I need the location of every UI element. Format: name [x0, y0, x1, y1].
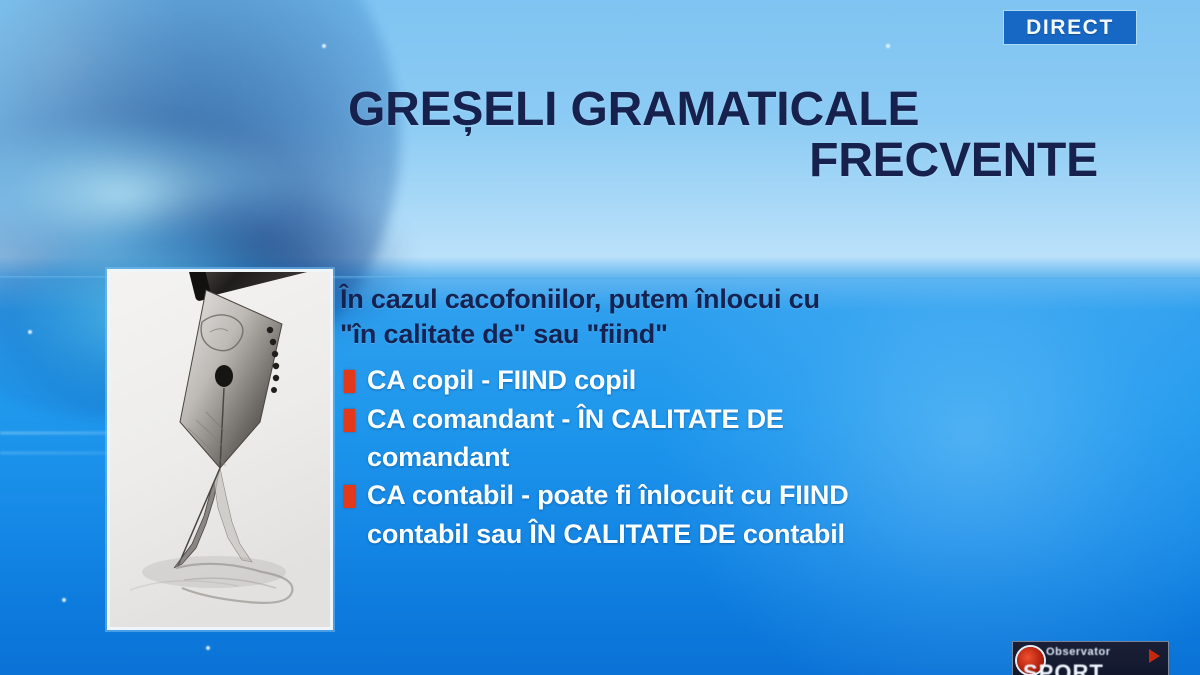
list-item-continuation: contabil sau ÎN CALITATE DE contabil: [340, 515, 1060, 553]
logo-top-label: Observator: [1046, 646, 1111, 658]
page-title-line-1: GREȘELI GRAMATICALE: [330, 84, 1120, 135]
bullet-marker-icon: [344, 370, 355, 393]
sparkle-dot: [886, 44, 890, 48]
list-item-label: CA comandant - ÎN CALITATE DE: [367, 404, 784, 434]
live-direct-badge: DIRECT: [1004, 11, 1136, 44]
sparkle-dot: [62, 598, 66, 602]
logo-arrow-icon: [1149, 649, 1160, 663]
list-item-label: comandant: [367, 442, 509, 472]
sparkle-dot: [206, 646, 210, 650]
list-item: CA copil - FIIND copil: [340, 361, 1060, 399]
page-title: GREȘELI GRAMATICALE FRECVENTE: [330, 84, 1120, 187]
page-title-line-2: FRECVENTE: [330, 135, 1120, 186]
sparkle-dot: [28, 330, 32, 334]
bullet-marker-icon: [344, 409, 355, 432]
list-item-label: contabil sau ÎN CALITATE DE contabil: [367, 519, 845, 549]
intro-paragraph: În cazul cacofoniilor, putem înlocui cu …: [340, 282, 1060, 352]
list-item-label: CA contabil - poate fi înlocuit cu FIIND: [367, 480, 849, 510]
sparkle-dot: [322, 44, 326, 48]
channel-logo: Observator SPORT: [1012, 641, 1169, 675]
list-item-continuation: comandant: [340, 438, 1060, 476]
logo-main-label: SPORT: [1023, 660, 1104, 675]
examples-list: CA copil - FIIND copil CA comandant - ÎN…: [340, 361, 1060, 553]
intro-line-2: "în calitate de" sau "fiind": [340, 317, 1060, 352]
broadcast-graphic-screen: DIRECT GREȘELI GRAMATICALE FRECVENTE: [0, 0, 1200, 675]
live-direct-label: DIRECT: [1026, 16, 1114, 40]
bullet-marker-icon: [344, 485, 355, 508]
content-body: În cazul cacofoniilor, putem înlocui cu …: [340, 282, 1060, 553]
list-item: CA contabil - poate fi înlocuit cu FIIND: [340, 476, 1060, 514]
fountain-pen-illustration: [110, 272, 330, 627]
list-item-label: CA copil - FIIND copil: [367, 365, 636, 395]
fountain-pen-photo: [110, 272, 330, 627]
list-item: CA comandant - ÎN CALITATE DE: [340, 400, 1060, 438]
intro-line-1: În cazul cacofoniilor, putem înlocui cu: [340, 282, 1060, 317]
